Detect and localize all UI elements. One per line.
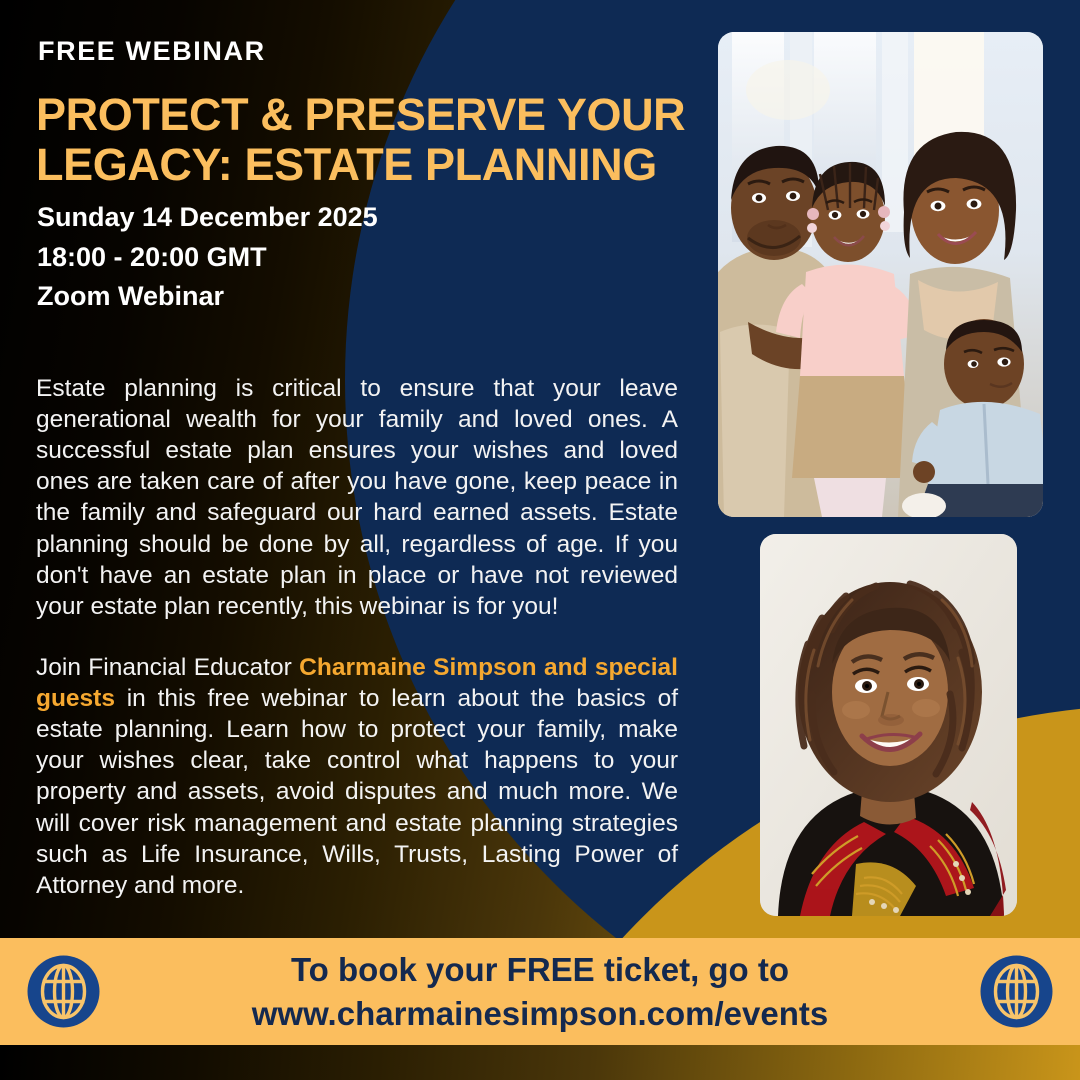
globe-icon	[26, 954, 101, 1029]
poster-content: FREE WEBINAR PROTECT & PRESERVE YOUR LEG…	[0, 0, 1080, 1080]
event-details: Sunday 14 December 2025 18:00 - 20:00 GM…	[37, 198, 677, 317]
paragraph-2-pre-text: Join Financial Educator	[36, 654, 299, 681]
description-paragraph-1: Estate planning is critical to ensure th…	[36, 373, 678, 623]
globe-icon-right-svg	[979, 954, 1054, 1029]
cta-banner: To book your FREE ticket, go to www.char…	[0, 938, 1080, 1045]
description-paragraph-2: Join Financial Educator Charmaine Simpso…	[36, 652, 678, 902]
event-date: Sunday 14 December 2025	[37, 198, 677, 238]
kicker-label: FREE WEBINAR	[38, 36, 266, 67]
cta-text: To book your FREE ticket, go to www.char…	[101, 948, 979, 1036]
globe-icon	[979, 954, 1054, 1029]
page-title-line-2: LEGACY: ESTATE PLANNING	[36, 140, 716, 190]
page-title: PROTECT & PRESERVE YOUR LEGACY: ESTATE P…	[36, 90, 716, 191]
paragraph-2-post-text: in this free webinar to learn about the …	[36, 685, 678, 899]
globe-icon-left-svg	[26, 954, 101, 1029]
bottom-gradient-strip	[0, 1045, 1080, 1080]
family-photo	[718, 32, 1043, 517]
cta-line-1: To book your FREE ticket, go to	[101, 948, 979, 992]
event-platform: Zoom Webinar	[37, 277, 677, 317]
speaker-portrait-photo	[760, 534, 1017, 916]
speaker-portrait-illustration	[760, 534, 1017, 916]
webinar-poster: FREE WEBINAR PROTECT & PRESERVE YOUR LEG…	[0, 0, 1080, 1080]
event-time: 18:00 - 20:00 GMT	[37, 238, 677, 278]
page-title-line-1: PROTECT & PRESERVE YOUR	[36, 90, 716, 140]
family-photo-illustration	[718, 32, 1043, 517]
cta-website-url[interactable]: www.charmainesimpson.com/events	[101, 992, 979, 1036]
